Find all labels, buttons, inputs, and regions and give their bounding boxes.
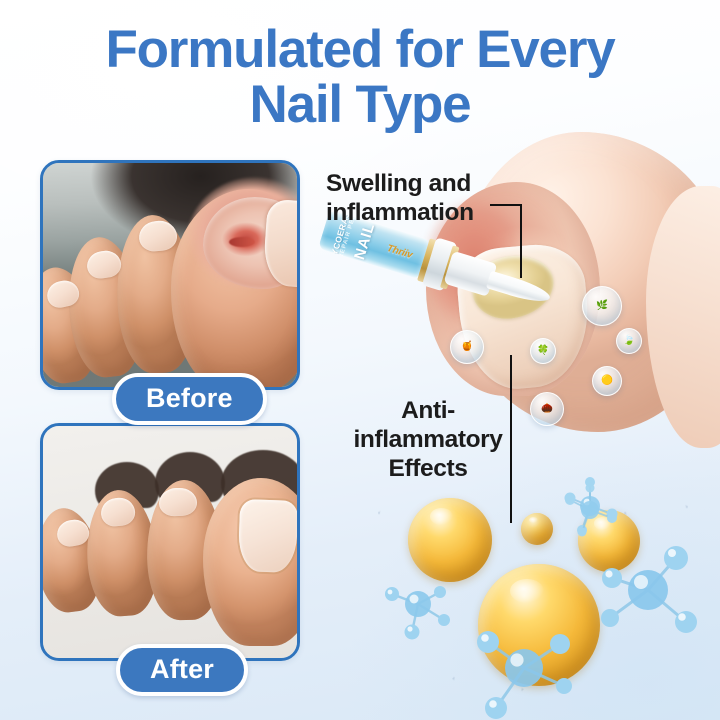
honey-glyph: 🍯 xyxy=(461,342,473,352)
molecule-model-left xyxy=(378,570,464,650)
aloe-glyph: 🌿 xyxy=(596,301,608,311)
before-photo xyxy=(40,160,300,390)
callout-anti-line-2: inflammatory xyxy=(352,426,504,455)
before-photo-image xyxy=(43,163,297,387)
oil-droplet-small xyxy=(521,513,553,545)
after-badge: After xyxy=(116,644,248,696)
after-photo xyxy=(40,423,300,661)
leaf-glyph: 🍀 xyxy=(537,346,549,356)
clove-spice-icon: 🌰 xyxy=(530,392,564,426)
healthy-big-toenail xyxy=(238,499,298,573)
title-line-2: Nail Type xyxy=(0,77,720,132)
callout-swelling-line-2: inflammation xyxy=(326,199,506,228)
oil-glyph: 🟡 xyxy=(601,376,613,386)
callout-swelling: Swelling and inflammation xyxy=(326,170,506,228)
after-photo-image xyxy=(43,426,297,658)
oil-capsule-icon: 🟡 xyxy=(592,366,622,396)
molecule-model-small xyxy=(556,478,628,544)
molecule-model-right xyxy=(590,538,708,648)
molecule-model-bottom xyxy=(460,612,586,720)
herb-sprig-icon: 🍃 xyxy=(616,328,642,354)
leader-line-anti-vertical xyxy=(510,355,512,523)
green-leaf-icon: 🍀 xyxy=(530,338,556,364)
callout-swelling-line-1: Swelling and xyxy=(326,170,506,199)
healthy-toenail-3 xyxy=(159,487,198,516)
page-title: Formulated for Every Nail Type xyxy=(0,22,720,132)
herb-glyph: 🍃 xyxy=(623,336,635,346)
aloe-leaf-icon: 🌿 xyxy=(582,286,622,326)
leader-line-swelling-vertical xyxy=(520,204,522,278)
before-badge: Before xyxy=(112,373,267,425)
honeycomb-icon: 🍯 xyxy=(450,330,484,364)
callout-anti-inflammatory: Anti- inflammatory Effects xyxy=(352,397,504,484)
product-poster: Formulated for Every Nail Type Before xyxy=(0,0,720,720)
callout-anti-line-3: Effects xyxy=(352,455,504,484)
callout-anti-line-1: Anti- xyxy=(352,397,504,426)
brand-logo: Thriiv xyxy=(386,243,414,261)
clove-glyph: 🌰 xyxy=(541,404,553,414)
title-line-1: Formulated for Every xyxy=(105,20,614,79)
